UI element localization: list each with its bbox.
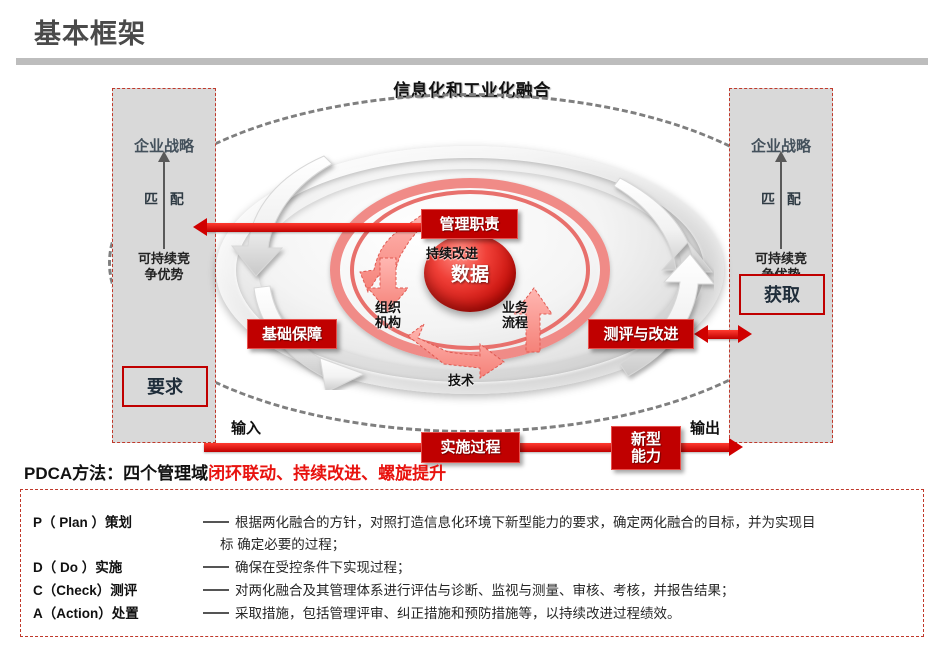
pdca-row-do: D（ Do ）实施确保在受控条件下实现过程； bbox=[33, 556, 411, 576]
pdca-text-plan-continuation: 标 确定必要的过程； bbox=[220, 533, 345, 553]
pdca-row-plan: P（ Plan ）策划根据两化融合的方针，对照打造信息化环境下新型能力的要求，确… bbox=[33, 511, 816, 531]
left-advantage-line2: 争优势 bbox=[113, 267, 215, 283]
pdca-key-do: D（ Do ）实施 bbox=[33, 556, 197, 576]
framework-diagram: 信息化和工业化融合 企业战略 匹 配 可持续竞 争优势 要求 企业战略 匹 配 … bbox=[0, 68, 944, 453]
pdca-heading-black: PDCA方法：四个管理域 bbox=[24, 464, 208, 483]
left-strategy-panel: 企业战略 匹 配 可持续竞 争优势 要求 bbox=[112, 88, 216, 443]
pdca-text-check: 对两化融合及其管理体系进行评估与诊断、监视与测量、审核、考核，并报告结果； bbox=[235, 583, 735, 598]
arrow-shaft bbox=[520, 443, 611, 452]
pdca-key-check: C（Check）测评 bbox=[33, 579, 197, 599]
new-capability-line1: 新型 bbox=[631, 431, 661, 448]
cycle-label-organization: 组织 机构 bbox=[375, 300, 401, 330]
arrow-shaft bbox=[204, 443, 421, 452]
requirement-box[interactable]: 要求 bbox=[122, 366, 208, 407]
management-responsibility-box[interactable]: 管理职责 bbox=[421, 209, 518, 239]
cycle-label-organization-line1: 组织 bbox=[375, 300, 401, 315]
cycle-label-continuous-improvement: 持续改进 bbox=[426, 246, 478, 261]
pdca-row-check: C（Check）测评对两化融合及其管理体系进行评估与诊断、监视与测量、审核、考核… bbox=[33, 579, 735, 599]
cycle-label-business-line1: 业务 bbox=[502, 300, 528, 315]
cycle-label-business-line2: 流程 bbox=[502, 315, 528, 330]
arrow-shaft bbox=[708, 330, 738, 339]
pdca-dash-icon bbox=[203, 589, 229, 591]
pdca-dash-icon bbox=[203, 612, 229, 614]
cycle-label-organization-line2: 机构 bbox=[375, 315, 401, 330]
page-title: 基本框架 bbox=[34, 12, 146, 51]
pdca-dash-icon bbox=[203, 521, 229, 523]
left-panel-match-label: 匹 配 bbox=[113, 189, 215, 209]
pdca-key-plan: P（ Plan ）策划 bbox=[33, 511, 197, 531]
new-capability-line2: 能力 bbox=[631, 448, 661, 465]
cycle-label-technology: 技术 bbox=[448, 373, 474, 388]
arrow-head-right-icon bbox=[729, 438, 743, 456]
pdca-text-do: 确保在受控条件下实现过程； bbox=[235, 560, 411, 575]
title-divider bbox=[16, 58, 928, 65]
arrow-head-left-icon bbox=[694, 325, 708, 343]
left-advantage-line1: 可持续竞 bbox=[113, 251, 215, 267]
cycle-label-business-process: 业务 流程 bbox=[502, 300, 528, 330]
pdca-heading: PDCA方法：四个管理域闭环联动、持续改进、螺旋提升 bbox=[24, 459, 446, 484]
pdca-text-action: 采取措施，包括管理评审、纠正措施和预防措施等，以持续改进过程绩效。 bbox=[235, 606, 681, 621]
arrow-shaft bbox=[207, 223, 421, 232]
left-panel-advantage-label: 可持续竞 争优势 bbox=[113, 251, 215, 283]
input-label: 输入 bbox=[231, 417, 261, 438]
right-panel-match-label: 匹 配 bbox=[730, 189, 832, 209]
new-capability-box[interactable]: 新型 能力 bbox=[611, 426, 681, 470]
pdca-text-plan: 根据两化融合的方针，对照打造信息化环境下新型能力的要求，确定两化融合的目标，并为… bbox=[235, 515, 816, 530]
acquire-box[interactable]: 获取 bbox=[739, 274, 825, 315]
foundation-support-box[interactable]: 基础保障 bbox=[247, 319, 337, 349]
output-label: 输出 bbox=[690, 417, 720, 438]
arrow-head-left-icon bbox=[193, 218, 207, 236]
arrow-head-right-icon bbox=[738, 325, 752, 343]
right-advantage-line1: 可持续竞 bbox=[730, 251, 832, 267]
data-sphere-label: 数据 bbox=[424, 260, 516, 287]
pdca-row-action: A（Action）处置采取措施，包括管理评审、纠正措施和预防措施等，以持续改进过… bbox=[33, 602, 681, 622]
pdca-key-action: A（Action）处置 bbox=[33, 602, 197, 622]
slide-root: 基本框架 信息化和工业化融合 企业战略 匹 配 可持续竞 争优势 要求 企业战略… bbox=[0, 0, 944, 657]
right-strategy-panel: 企业战略 匹 配 可持续竞 争优势 获取 bbox=[729, 88, 833, 443]
arrow-shaft bbox=[681, 443, 729, 452]
pdca-detail-box: P（ Plan ）策划根据两化融合的方针，对照打造信息化环境下新型能力的要求，确… bbox=[20, 489, 924, 637]
pdca-heading-red: 闭环联动、持续改进、螺旋提升 bbox=[208, 464, 446, 483]
pdca-dash-icon bbox=[203, 566, 229, 568]
evaluation-improvement-box[interactable]: 测评与改进 bbox=[588, 319, 694, 349]
